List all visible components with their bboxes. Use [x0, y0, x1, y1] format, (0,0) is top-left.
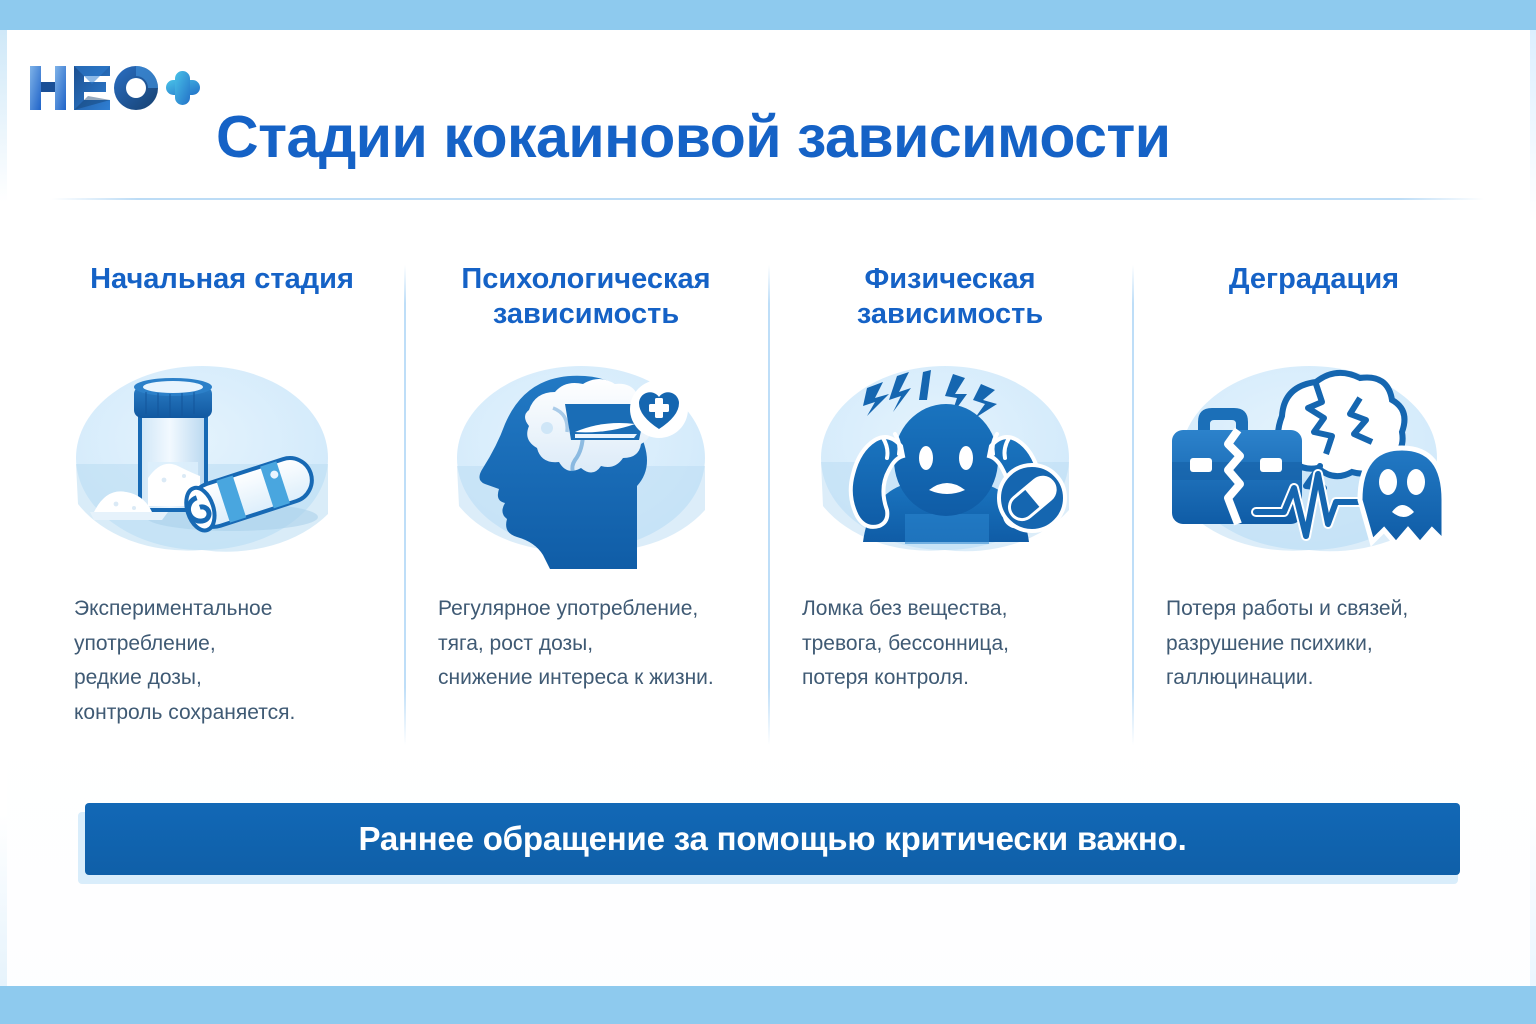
stages-row: Начальная стадия [40, 248, 1496, 760]
pill-jar-powder-rolled-note-icon [72, 354, 372, 569]
head-brain-heart-plus-icon [441, 354, 731, 569]
stage-column-3: Физическая зависимость [768, 248, 1132, 760]
stage-title-2: Психологическая зависимость [426, 248, 746, 340]
brand-logo [24, 58, 204, 122]
stage-title-3: Физическая зависимость [790, 248, 1110, 340]
stage-body-4: Потеря работы и связей, разрушение психи… [1154, 592, 1474, 696]
stage-title-4: Деградация [1154, 248, 1474, 340]
top-accent-bar [0, 0, 1536, 30]
stage-column-2: Психологическая зависимость [404, 248, 768, 760]
stage-title-1: Начальная стадия [62, 248, 382, 340]
stage-icon-1 [62, 354, 382, 574]
stage-body-1: Экспериментальное употребление, редкие д… [62, 592, 382, 731]
stage-body-2: Регулярное употребление, тяга, рост дозы… [426, 592, 746, 696]
stage-icon-3 [790, 354, 1110, 574]
neo-plus-logo-icon [24, 58, 204, 122]
broken-briefcase-cracked-brain-ghost-icon [1164, 354, 1464, 569]
stage-column-4: Деградация [1132, 248, 1496, 760]
bottom-accent-bar [0, 986, 1536, 1024]
stage-column-1: Начальная стадия [40, 248, 404, 760]
stage-body-3: Ломка без вещества, тревога, бессонница,… [790, 592, 1110, 696]
header-divider [52, 198, 1484, 200]
footer-banner: Раннее обращение за помощью критически в… [85, 803, 1460, 875]
stage-icon-4 [1154, 354, 1474, 574]
person-headache-pill-icon [805, 354, 1095, 569]
footer-banner-text: Раннее обращение за помощью критически в… [358, 820, 1186, 858]
infographic-page: Стадии кокаиновой зависимости Начальная … [0, 0, 1536, 1024]
page-title: Стадии кокаиновой зависимости [216, 108, 1171, 167]
stage-icon-2 [426, 354, 746, 574]
header: Стадии кокаиновой зависимости [0, 30, 1536, 200]
